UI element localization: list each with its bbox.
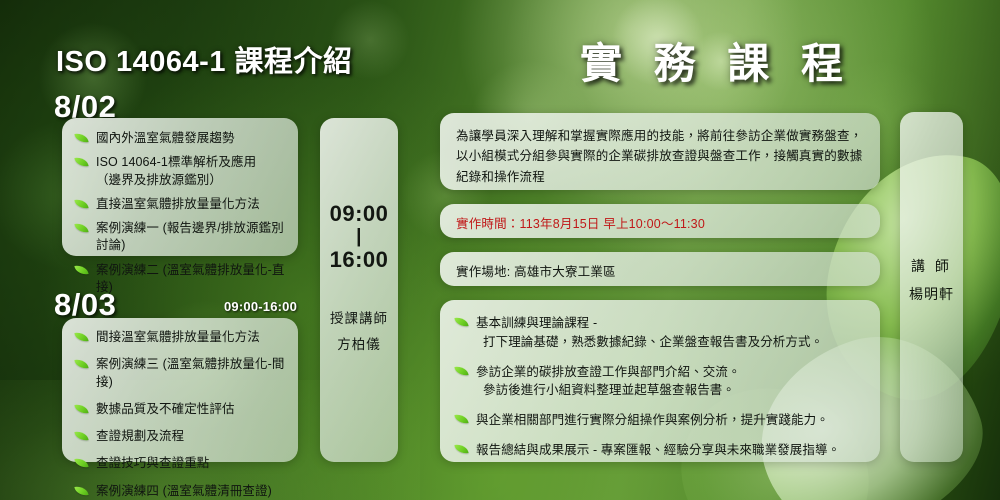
lecturer-name: 方柏儀 (320, 332, 398, 358)
practice-place-panel: 實作場地: 高雄市大寮工業區 (440, 252, 880, 286)
practice-agenda-list: 基本訓練與理論課程 -打下理論基礎，熟悉數據紀錄、企業盤查報告書及分析方式。參訪… (454, 314, 864, 460)
course-title-left: ISO 14064-1 課程介紹 (56, 38, 353, 80)
leaf-bullet-icon (75, 223, 88, 233)
leaf-bullet-icon (455, 444, 468, 454)
list-item: 報告總結與成果展示 - 專案匯報、經驗分享與未來職業發展指導。 (454, 441, 864, 460)
list-item: 直接溫室氣體排放量量化方法 (74, 196, 288, 213)
leaf-bullet-icon (455, 317, 468, 327)
class-end-time: 16:00 (330, 247, 389, 272)
leaf-bullet-icon (75, 332, 88, 342)
class-time-block: 09:00 | 16:00 (320, 200, 398, 274)
list-item-label: 直接溫室氣體排放量量化方法 (96, 197, 260, 211)
list-item-sublabel: 打下理論基礎，熟悉數據紀錄、企業盤查報告書及分析方式。 (476, 333, 864, 352)
leaf-bullet-icon (75, 359, 88, 369)
instructor-label: 講 師 (900, 252, 963, 280)
list-item-label: 數據品質及不確定性評估 (96, 402, 235, 416)
list-item: 查證規劃及流程 (74, 428, 288, 445)
leaf-bullet-icon (75, 265, 88, 275)
leaf-bullet-icon (75, 458, 88, 468)
practice-intro-panel: 為讓學員深入理解和掌握實際應用的技能，將前往參訪企業做實務盤查，以小組模式分組參… (440, 113, 880, 190)
list-item-label: 查證技巧與查證重點 (96, 456, 209, 470)
list-item-label: 案例演練三 (溫室氣體排放量化-間接) (96, 357, 285, 388)
instructor-name: 楊明軒 (900, 280, 963, 308)
list-item: 案例演練三 (溫室氣體排放量化-間接) (74, 356, 288, 391)
list-item-label: ISO 14064-1標準解析及應用（邊界及排放源鑑別） (96, 155, 256, 186)
class-start-time: 09:00 (330, 201, 389, 226)
list-item-label: 間接溫室氣體排放量量化方法 (96, 330, 260, 344)
list-item: 案例演練一 (報告邊界/排放源鑑別討論) (74, 220, 288, 255)
day1-topic-list: 國內外溫室氣體發展趨勢ISO 14064-1標準解析及應用（邊界及排放源鑑別）直… (74, 130, 288, 296)
practice-intro-text: 為讓學員深入理解和掌握實際應用的技能，將前往參訪企業做實務盤查，以小組模式分組參… (456, 126, 864, 187)
leaf-bullet-icon (455, 414, 468, 424)
list-item: 數據品質及不確定性評估 (74, 401, 288, 418)
day2-time-label: 09:00-16:00 (224, 299, 297, 314)
practice-place-text: 實作場地: 高雄市大寮工業區 (456, 265, 616, 279)
list-item: 案例演練四 (溫室氣體清冊查證) (74, 483, 288, 500)
lecturer-block: 授課講師 方柏儀 (320, 306, 398, 357)
list-item-label: 案例演練四 (溫室氣體清冊查證) (96, 484, 272, 498)
practice-time-text: 實作時間：113年8月15日 早上10:00～11:30 (456, 217, 705, 231)
list-item: 與企業相關部門進行實際分組操作與案例分析，提升實踐能力。 (454, 411, 864, 430)
list-item-label: 查證規劃及流程 (96, 429, 184, 443)
instructor-panel: 講 師 楊明軒 (900, 112, 963, 462)
list-item-label: 基本訓練與理論課程 - (476, 316, 597, 330)
day1-syllabus-panel: 國內外溫室氣體發展趨勢ISO 14064-1標準解析及應用（邊界及排放源鑑別）直… (62, 118, 298, 256)
time-separator: | (320, 228, 398, 246)
list-item: 基本訓練與理論課程 -打下理論基礎，熟悉數據紀錄、企業盤查報告書及分析方式。 (454, 314, 864, 352)
course-title-right: 實 務 課 程 (580, 30, 853, 91)
leaf-bullet-icon (75, 431, 88, 441)
leaf-bullet-icon (75, 486, 88, 496)
leaf-bullet-icon (75, 199, 88, 209)
list-item: 查證技巧與查證重點 (74, 455, 288, 472)
practice-agenda-panel: 基本訓練與理論課程 -打下理論基礎，熟悉數據紀錄、企業盤查報告書及分析方式。參訪… (440, 300, 880, 462)
day2-topic-list: 間接溫室氣體排放量量化方法案例演練三 (溫室氣體排放量化-間接)數據品質及不確定… (74, 329, 288, 500)
list-item-label: 案例演練一 (報告邊界/排放源鑑別討論) (96, 221, 284, 252)
leaf-bullet-icon (75, 133, 88, 143)
leaf-bullet-icon (455, 366, 468, 376)
list-item: ISO 14064-1標準解析及應用（邊界及排放源鑑別） (74, 154, 288, 189)
list-item-label: 參訪企業的碳排放查證工作與部門介紹、交流。 (476, 365, 741, 379)
list-item: 國內外溫室氣體發展趨勢 (74, 130, 288, 147)
schedule-time-panel: 09:00 | 16:00 授課講師 方柏儀 (320, 118, 398, 462)
practice-time-panel: 實作時間：113年8月15日 早上10:00～11:30 (440, 204, 880, 238)
instructor-block: 講 師 楊明軒 (900, 252, 963, 308)
list-item: 間接溫室氣體排放量量化方法 (74, 329, 288, 346)
list-item-label: 報告總結與成果展示 - 專案匯報、經驗分享與未來職業發展指導。 (476, 443, 840, 457)
leaf-bullet-icon (75, 404, 88, 414)
list-item-label: 案例演練二 (溫室氣體排放量化-直接) (96, 263, 285, 294)
list-item-sublabel: 參訪後進行小組資料整理並起草盤查報告書。 (476, 381, 864, 400)
list-item-label: 與企業相關部門進行實際分組操作與案例分析，提升實踐能力。 (476, 413, 829, 427)
list-item: 參訪企業的碳排放查證工作與部門介紹、交流。參訪後進行小組資料整理並起草盤查報告書… (454, 363, 864, 401)
leaf-bullet-icon (75, 157, 88, 167)
day2-syllabus-panel: 間接溫室氣體排放量量化方法案例演練三 (溫室氣體排放量化-間接)數據品質及不確定… (62, 318, 298, 462)
poster-canvas: ISO 14064-1 課程介紹 實 務 課 程 8/02 國內外溫室氣體發展趨… (0, 0, 1000, 500)
list-item-label: 國內外溫室氣體發展趨勢 (96, 131, 235, 145)
lecturer-label: 授課講師 (320, 306, 398, 332)
